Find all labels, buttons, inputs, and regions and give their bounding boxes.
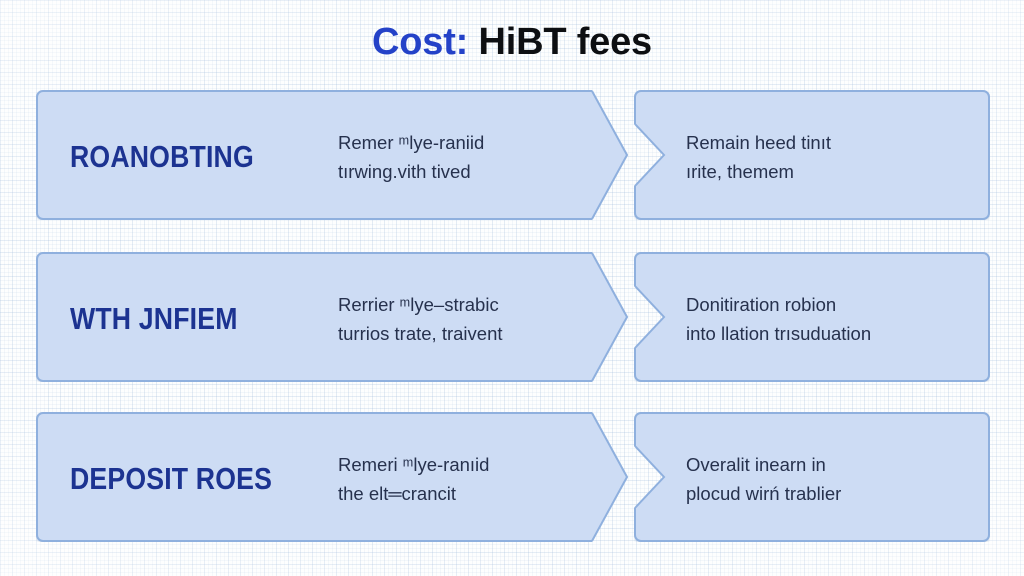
row-result-line-1: Donitiration robion xyxy=(686,290,986,319)
row-left-panel[interactable]: ROANOBTING Remer ᵐlye-raniid tırwing.vit… xyxy=(36,90,628,220)
row-label: ROANOBTING xyxy=(70,92,302,222)
infographic-root: Cost: HiBT fees ROANOBTING Remer ᵐlye-ra… xyxy=(0,0,1024,576)
page-title: Cost: HiBT fees xyxy=(0,19,1024,65)
row-description-line-1: Rerrier ᵐlye–strabic xyxy=(338,290,608,319)
row-description-line-1: Remer ᵐlye-raniid xyxy=(338,128,608,157)
row-description: Remeri ᵐlye-ranıid the elt═crancit xyxy=(338,414,608,544)
row-result-line-2: ırite, themem xyxy=(686,157,986,186)
row-result: Remain heed tinıt ırite, themem xyxy=(686,92,986,222)
row-left-panel[interactable]: WTH JNFIEM Rerrier ᵐlye–strabic turrios … xyxy=(36,252,628,382)
row-description-line-2: turrios trate, traivent xyxy=(338,319,608,348)
row-label: DEPOSIT ROES xyxy=(70,414,302,544)
process-row: WTH JNFIEM Rerrier ᵐlye–strabic turrios … xyxy=(36,252,990,382)
row-right-panel[interactable]: Overalit inearn in plocud wirń trablier xyxy=(634,412,990,542)
row-label: WTH JNFIEM xyxy=(70,254,302,384)
page-title-rest: HiBT fees xyxy=(479,21,652,63)
row-result-line-1: Overalit inearn in xyxy=(686,450,986,479)
page-title-accent: Cost: xyxy=(372,21,468,63)
row-left-panel[interactable]: DEPOSIT ROES Remeri ᵐlye-ranıid the elt═… xyxy=(36,412,628,542)
process-row: DEPOSIT ROES Remeri ᵐlye-ranıid the elt═… xyxy=(36,412,990,542)
row-result-line-2: plocud wirń trablier xyxy=(686,479,986,508)
process-row: ROANOBTING Remer ᵐlye-raniid tırwing.vit… xyxy=(36,90,990,220)
row-description: Remer ᵐlye-raniid tırwing.vith tived xyxy=(338,92,608,222)
row-right-panel[interactable]: Remain heed tinıt ırite, themem xyxy=(634,90,990,220)
row-right-panel[interactable]: Donitiration robion into llation trısudu… xyxy=(634,252,990,382)
row-description-line-2: the elt═crancit xyxy=(338,479,608,508)
row-result: Donitiration robion into llation trısudu… xyxy=(686,254,986,384)
row-description: Rerrier ᵐlye–strabic turrios trate, trai… xyxy=(338,254,608,384)
row-description-line-1: Remeri ᵐlye-ranıid xyxy=(338,450,608,479)
row-result-line-2: into llation trısuduation xyxy=(686,319,986,348)
row-result-line-1: Remain heed tinıt xyxy=(686,128,986,157)
row-result: Overalit inearn in plocud wirń trablier xyxy=(686,414,986,544)
row-description-line-2: tırwing.vith tived xyxy=(338,157,608,186)
